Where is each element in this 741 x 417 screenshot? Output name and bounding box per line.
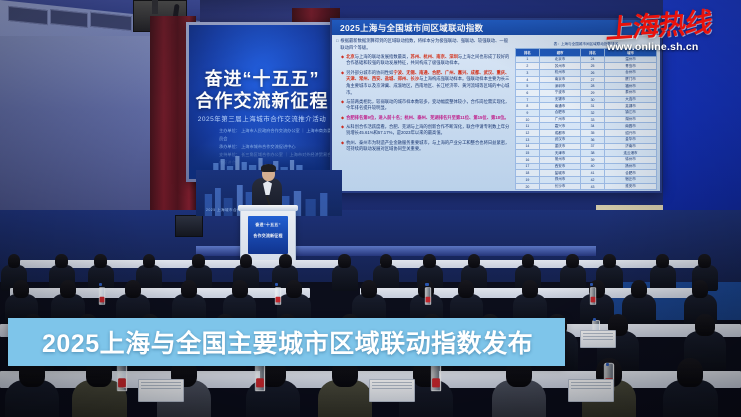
slide-bullet: ◆另外部分城市的协同性如宁波、无锡、南通、合肥、广州、嘉兴、成都、武汉、重庆、天… bbox=[341, 70, 512, 97]
audience-head bbox=[695, 314, 715, 336]
name-placard bbox=[138, 379, 184, 402]
table-cell: 苏州市 bbox=[539, 63, 580, 70]
projector-mount bbox=[152, 0, 158, 14]
audience-head bbox=[698, 254, 710, 268]
ranking-table: 排名城市排名城市 1北京市24温州市2苏州市25青岛市3杭州市26台州市4南京市… bbox=[515, 48, 657, 190]
audience-head bbox=[13, 280, 29, 298]
left-projection-screen: 奋进“十五五” 合作交流新征程 2025年第三届上海城市合作交流推介活动 主办单… bbox=[186, 22, 338, 182]
table-cell: 11 bbox=[516, 123, 540, 130]
bullet-marker-icon: ◆ bbox=[341, 99, 344, 112]
table-cell: 40 bbox=[581, 163, 605, 170]
audience-member bbox=[373, 265, 399, 291]
audience-head bbox=[286, 280, 302, 298]
bullet-text: 根据最新数据测算得到的区域联动指数，将样本分为极强联动、强联动、较强联动、一般联… bbox=[340, 38, 512, 51]
table-cell: 盐城市 bbox=[539, 170, 580, 177]
lower-third-caption: 2025上海与全国主要城市区域联动指数发布 bbox=[8, 318, 565, 366]
bullet-text: 与前两类相比，较弱联动的城市样本数较多，变动幅度整体较小，合作岗位需实现化，今年… bbox=[346, 99, 512, 112]
table-row: 19郑州市42宿迁市 bbox=[516, 176, 657, 183]
audience-head bbox=[692, 280, 708, 298]
table-cell: 南京市 bbox=[539, 76, 580, 83]
table-cell: 24 bbox=[581, 56, 605, 63]
table-cell: 9 bbox=[516, 110, 540, 117]
name-placard bbox=[580, 330, 616, 348]
table-cell: 济南市 bbox=[604, 143, 656, 150]
table-cell: 天津市 bbox=[539, 150, 580, 157]
audience-head bbox=[656, 254, 668, 268]
table-cell: 金华市 bbox=[604, 136, 656, 143]
table-cell: 郑州市 bbox=[539, 176, 580, 183]
table-cell: 温州市 bbox=[604, 56, 656, 63]
audience-head bbox=[8, 254, 20, 268]
podium-text-line1: 奋进“十五五” bbox=[248, 222, 288, 227]
table-cell: 8 bbox=[516, 103, 540, 110]
table-cell: 武汉市 bbox=[539, 136, 580, 143]
table-cell: 31 bbox=[581, 103, 605, 110]
table-cell: 38 bbox=[581, 150, 605, 157]
table-row: 1北京市24温州市 bbox=[516, 56, 657, 63]
caption-text: 2025上海与全国主要城市区域联动指数发布 bbox=[42, 324, 533, 360]
water-bottle bbox=[274, 287, 280, 305]
table-row: 12成都市35绍兴市 bbox=[516, 130, 657, 137]
table-row: 2苏州市25青岛市 bbox=[516, 63, 657, 70]
table-cell: 13 bbox=[516, 136, 540, 143]
audience-head bbox=[94, 254, 106, 268]
table-cell: 30 bbox=[581, 96, 605, 103]
table-cell: 42 bbox=[581, 176, 605, 183]
table-cell: 连云港市 bbox=[604, 150, 656, 157]
table-cell: 台州市 bbox=[604, 69, 656, 76]
audience-member bbox=[650, 265, 676, 291]
table-cell: 1 bbox=[516, 56, 540, 63]
audience-head bbox=[522, 280, 538, 298]
table-cell: 淮安市 bbox=[604, 183, 656, 190]
podium-text-line2: 合作交流新征程 bbox=[248, 233, 288, 238]
table-header-row: 排名城市排名城市 bbox=[516, 49, 657, 57]
table-cell: 27 bbox=[581, 76, 605, 83]
table-cell: 南昌市 bbox=[604, 123, 656, 130]
audience-head bbox=[181, 280, 197, 298]
audience-head bbox=[677, 358, 703, 387]
table-row: 17西安市40扬州市 bbox=[516, 163, 657, 170]
bullet-marker-icon: ◆ bbox=[341, 115, 344, 122]
audience-head bbox=[143, 254, 155, 268]
table-cell: 扬州市 bbox=[604, 163, 656, 170]
table-row: 11嘉兴市34南昌市 bbox=[516, 123, 657, 130]
slide-title: 2025上海与全国城市间区域联动指数 bbox=[340, 22, 483, 34]
table-cell: 10 bbox=[516, 116, 540, 123]
bullet-text: 从科创合作活跃度看，合肥、芜湖与上海的创新合作不断深化，联合申请专利数上年分别增… bbox=[346, 124, 512, 137]
table-cell: 成都市 bbox=[539, 130, 580, 137]
audience-head bbox=[361, 280, 377, 298]
table-row: 10广州市33湖州市 bbox=[516, 116, 657, 123]
table-cell: 青岛市 bbox=[604, 63, 656, 70]
table-header-cell: 城市 bbox=[539, 49, 580, 57]
bullet-marker-icon: ◆ bbox=[341, 124, 344, 137]
table-cell: 33 bbox=[581, 116, 605, 123]
table-cell: 西安市 bbox=[539, 163, 580, 170]
table-cell: 12 bbox=[516, 130, 540, 137]
right-projection-screen: 2025上海与全国城市间区域联动指数 □根据最新数据测算得到的区域联动指数，将样… bbox=[330, 18, 662, 193]
table-cell: 镇江市 bbox=[604, 110, 656, 117]
table-cell: 深圳市 bbox=[539, 83, 580, 90]
table-row: 18盐城市41合肥市 bbox=[516, 170, 657, 177]
table-cell: 北京市 bbox=[539, 56, 580, 63]
table-cell: 杭州市 bbox=[539, 69, 580, 76]
audience-head bbox=[192, 254, 204, 268]
table-cell: 6 bbox=[516, 90, 540, 97]
name-placard bbox=[568, 379, 614, 402]
audience-head bbox=[468, 254, 480, 268]
table-cell: 湖州市 bbox=[604, 116, 656, 123]
audience-head bbox=[232, 280, 248, 298]
table-cell: 宁波市 bbox=[539, 90, 580, 97]
name-placard bbox=[369, 379, 415, 402]
table-cell: 合肥市 bbox=[604, 170, 656, 177]
table-cell: 南通市 bbox=[539, 103, 580, 110]
bullet-text: 北京与上海的联动发展指数最高，苏州、杭州、南京、深圳与上海之间也形成了较好的合作… bbox=[346, 54, 512, 67]
slide-ranking-table-wrap: 表：上海与全国城市间区域联动指数排名 排名城市排名城市 1北京市24温州市2苏州… bbox=[515, 42, 657, 190]
slide-bullet: ◆北京与上海的联动发展指数最高，苏州、杭州、南京、深圳与上海之间也形成了较好的合… bbox=[341, 54, 512, 67]
table-cell: 18 bbox=[516, 170, 540, 177]
table-row: 15天津市38连云港市 bbox=[516, 150, 657, 157]
table-row: 5深圳市28福州市 bbox=[516, 83, 657, 90]
table-cell: 芜湖市 bbox=[604, 103, 656, 110]
left-screen-meta-line: 主办单位： 上海市人民政府合作交流办公室 ｜ 上海市商务委员会 bbox=[219, 127, 335, 143]
water-bottle bbox=[425, 287, 431, 305]
bullet-text: 合肥排名第9位，进入前十名；杭州、泰州、芜湖排名升至第11位、第15位、第18位… bbox=[346, 115, 509, 122]
audience-head bbox=[338, 254, 350, 268]
audience-head bbox=[125, 280, 141, 298]
table-row: 4南京市27厦门市 bbox=[516, 76, 657, 83]
slide-bullet: ◆与前两类相比，较弱联动的城市样本数较多，变动幅度整体较小，合作岗位需实现化，今… bbox=[341, 99, 512, 112]
table-cell: 36 bbox=[581, 136, 605, 143]
audience-head bbox=[279, 254, 291, 268]
table-cell: 3 bbox=[516, 69, 540, 76]
bottle-cap bbox=[425, 283, 428, 286]
table-cell: 14 bbox=[516, 143, 540, 150]
table-cell: 17 bbox=[516, 163, 540, 170]
table-cell: 26 bbox=[581, 69, 605, 76]
table-cell: 重庆市 bbox=[539, 143, 580, 150]
audience-head bbox=[522, 254, 534, 268]
table-body: 1北京市24温州市2苏州市25青岛市3杭州市26台州市4南京市27厦门市5深圳市… bbox=[516, 56, 657, 190]
table-caption: 表：上海与全国城市间区域联动指数排名 bbox=[515, 42, 657, 47]
table-cell: 福州市 bbox=[604, 83, 656, 90]
audience-head bbox=[458, 280, 474, 298]
bullet-marker-icon: ◆ bbox=[341, 54, 344, 67]
bullet-marker-icon: ◆ bbox=[341, 70, 344, 97]
water-bottle bbox=[589, 287, 595, 305]
table-cell: 39 bbox=[581, 156, 605, 163]
table-row: 14重庆市37济南市 bbox=[516, 143, 657, 150]
table-cell: 43 bbox=[581, 183, 605, 190]
right-screen-surface: 2025上海与全国城市间区域联动指数 □根据最新数据测算得到的区域联动指数，将样… bbox=[332, 20, 660, 191]
table-header-cell: 排名 bbox=[516, 49, 540, 57]
table-cell: 徐州市 bbox=[604, 156, 656, 163]
table-cell: 大连市 bbox=[604, 96, 656, 103]
water-bottle bbox=[117, 362, 127, 391]
slide-bullet-list: □根据最新数据测算得到的区域联动指数，将样本分为极强联动、强联动、较强联动、一般… bbox=[336, 38, 512, 155]
table-cell: 32 bbox=[581, 110, 605, 117]
table-cell: 15 bbox=[516, 150, 540, 157]
right-blue-panel: 会 bbox=[663, 0, 741, 210]
table-cell: 泰州市 bbox=[604, 90, 656, 97]
table-cell: 长沙市 bbox=[539, 183, 580, 190]
table-cell: 34 bbox=[581, 123, 605, 130]
table-cell: 5 bbox=[516, 83, 540, 90]
table-cell: 嘉兴市 bbox=[539, 123, 580, 130]
audience-member bbox=[560, 265, 586, 291]
audience-head bbox=[603, 254, 615, 268]
table-row: 8南通市31芜湖市 bbox=[516, 103, 657, 110]
water-bottle bbox=[98, 287, 104, 305]
audience-head bbox=[380, 254, 392, 268]
bullet-text: 另外部分城市的协同性如宁波、无锡、南通、合肥、广州、嘉兴、成都、武汉、重庆、天津… bbox=[346, 70, 512, 97]
table-cell: 广州市 bbox=[539, 116, 580, 123]
table-cell: 厦门市 bbox=[604, 76, 656, 83]
table-row: 9合肥市32镇江市 bbox=[516, 110, 657, 117]
table-cell: 41 bbox=[581, 170, 605, 177]
stage-speaker-box bbox=[175, 215, 203, 237]
speaker-hair bbox=[261, 164, 276, 172]
table-row: 6宁波市29泰州市 bbox=[516, 90, 657, 97]
table-cell: 19 bbox=[516, 176, 540, 183]
table-cell: 绍兴市 bbox=[604, 130, 656, 137]
table-row: 20长沙市43淮安市 bbox=[516, 183, 657, 190]
audience-head bbox=[423, 254, 435, 268]
broadcast-frame: 会 奋进“十五五” 合作交流新征程 2025年第三届上海城市合作交流推介活动 主… bbox=[0, 0, 741, 417]
left-screen-title-line2: 合作交流新征程 bbox=[189, 87, 335, 113]
podium-top bbox=[238, 205, 298, 211]
table-cell: 16 bbox=[516, 156, 540, 163]
table-row: 7无锡市30大连市 bbox=[516, 96, 657, 103]
audience-head bbox=[240, 254, 252, 268]
table-cell: 28 bbox=[581, 83, 605, 90]
table-cell: 2 bbox=[516, 63, 540, 70]
table-row: 13武汉市36金华市 bbox=[516, 136, 657, 143]
table-cell: 合肥市 bbox=[539, 110, 580, 117]
table-cell: 常州市 bbox=[539, 156, 580, 163]
slide-bullet: ◆从科创合作活跃度看，合肥、芜湖与上海的创新合作不断深化，联合申请专利数上年分别… bbox=[341, 124, 512, 137]
table-cell: 4 bbox=[516, 76, 540, 83]
podium-front-panel: 奋进“十五五” 合作交流新征程 bbox=[248, 216, 288, 254]
left-screen-subtitle: 2025年第三届上海城市合作交流推介活动 bbox=[189, 113, 335, 123]
water-bottle bbox=[255, 362, 265, 391]
table-row: 16常州市39徐州市 bbox=[516, 156, 657, 163]
table-cell: 20 bbox=[516, 183, 540, 190]
audience-head bbox=[566, 254, 578, 268]
table-cell: 37 bbox=[581, 143, 605, 150]
table-cell: 35 bbox=[581, 130, 605, 137]
audience-member bbox=[332, 265, 358, 291]
audience-head bbox=[631, 280, 647, 298]
table-cell: 25 bbox=[581, 63, 605, 70]
table-row: 3杭州市26台州市 bbox=[516, 69, 657, 76]
bullet-text: 杭州、泰州市为制造产业金融服务重要城市，与上海的产业分工和整合也将日益紧密，可持… bbox=[346, 140, 512, 153]
table-cell: 29 bbox=[581, 90, 605, 97]
bullet-marker-icon: ◆ bbox=[341, 140, 344, 153]
slide-bullet: ◆杭州、泰州市为制造产业金融服务重要城市，与上海的产业分工和整合也将日益紧密，可… bbox=[341, 140, 512, 153]
table-cell: 无锡市 bbox=[539, 96, 580, 103]
audience-head bbox=[55, 254, 67, 268]
table-cell: 宿迁市 bbox=[604, 176, 656, 183]
slide-bullet: □根据最新数据测算得到的区域联动指数，将样本分为极强联动、强联动、较强联动、一般… bbox=[336, 38, 512, 51]
table-cell: 7 bbox=[516, 96, 540, 103]
left-screen-surface: 奋进“十五五” 合作交流新征程 2025年第三届上海城市合作交流推介活动 主办单… bbox=[189, 25, 335, 179]
table-header-cell: 排名 bbox=[581, 49, 605, 57]
bullet-marker-icon: □ bbox=[336, 38, 338, 51]
table-header-cell: 城市 bbox=[604, 49, 656, 57]
slide-bullet: ◆合肥排名第9位，进入前十名；杭州、泰州、芜湖排名升至第11位、第15位、第18… bbox=[341, 115, 512, 122]
water-bottle bbox=[431, 362, 441, 391]
audience-head bbox=[60, 280, 76, 298]
